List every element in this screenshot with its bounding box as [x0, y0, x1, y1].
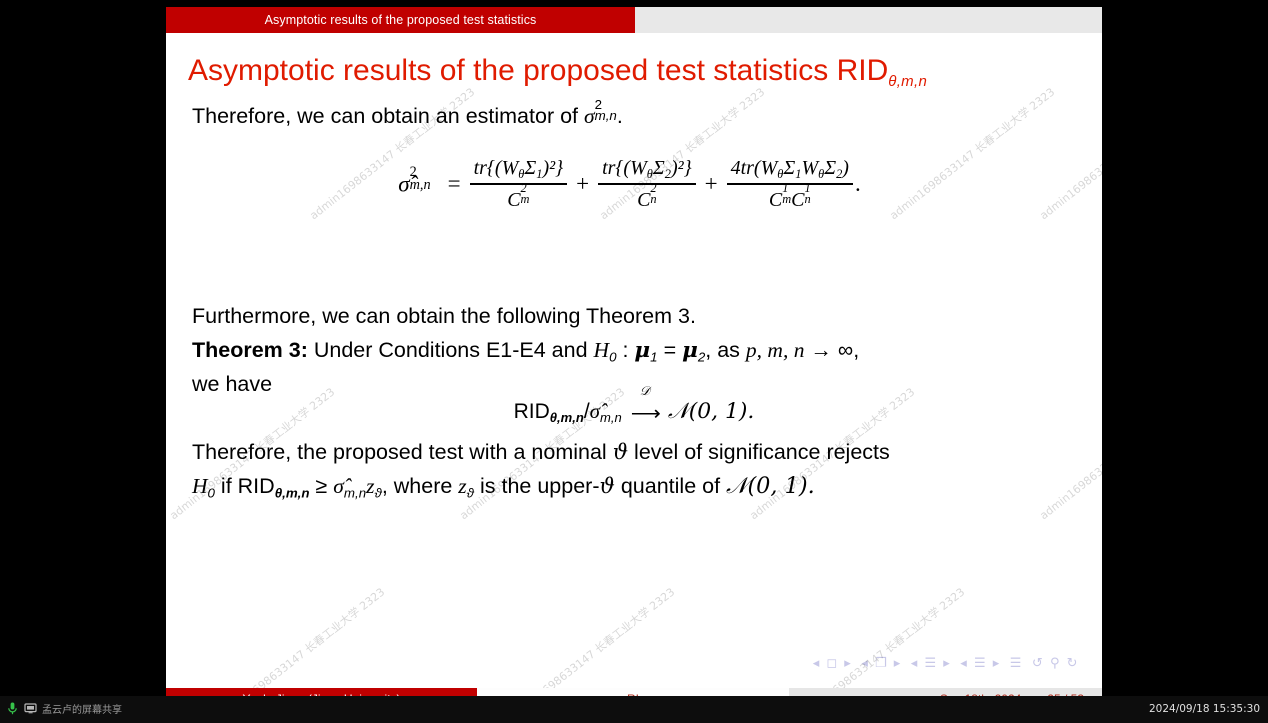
presentation-slide: Asymptotic results of the proposed test …: [166, 7, 1102, 688]
line6-z-subscript: ϑ: [374, 485, 381, 500]
monitor-icon[interactable]: [24, 701, 37, 716]
line6-is-upper: is the upper-: [474, 474, 599, 498]
term2-c-indices: 2n: [650, 187, 656, 207]
os-taskbar: 孟云卢的屏幕共享 2024/09/18 15:35:30: [0, 696, 1268, 723]
page-title-text: Asymptotic results of the proposed test …: [188, 54, 888, 87]
conv-rid: RID: [514, 400, 550, 423]
page-title-subscript: θ,m,n: [888, 73, 927, 90]
conv-rid-subscript: θ,m,n: [550, 410, 584, 425]
term1-c-indices: 2m: [521, 187, 530, 207]
screen-share-indicator[interactable]: 孟云卢的屏幕共享: [6, 701, 122, 716]
fraction-term-1: tr{(WθΣ1)²} C2m: [470, 157, 568, 212]
term1-tr-open: tr{(W: [474, 157, 519, 179]
line6-sigma-hat: σ̂: [333, 474, 344, 498]
term2-tr-open: tr{(W: [602, 157, 647, 179]
line6-where: , where: [382, 474, 458, 498]
watermark: admin1698633147 长春工业大学 2323: [1086, 584, 1102, 688]
convergence-arrow: 𝒟⟶: [631, 401, 659, 426]
body-line-5: Therefore, the proposed test with a nomi…: [166, 435, 916, 470]
line6-quantile: quantile of: [615, 474, 726, 498]
line5-prefix: Therefore, the proposed test with a nomi…: [192, 440, 613, 464]
term2-tail: )²}: [671, 157, 692, 179]
equation-period: .: [855, 171, 861, 197]
term3-c1-sub: m: [782, 194, 791, 204]
screen: Asymptotic results of the proposed test …: [0, 0, 1268, 723]
term3-w-2: W: [801, 157, 818, 179]
nav-section-group[interactable]: ◂ ☰ ▸: [960, 656, 1000, 671]
term3-sigma-1: Σ: [783, 157, 795, 179]
fraction-2-denominator: C2n: [633, 185, 661, 212]
watermark: admin1698633147 长春工业大学 2323: [506, 584, 678, 688]
equals-sign: =: [448, 171, 461, 197]
mu2-symbol: μ: [682, 338, 698, 363]
normal-distribution: 𝒩(0, 1).: [668, 399, 755, 424]
nav-back-search-forward-icons[interactable]: ↺ ⚲ ↻: [1032, 656, 1079, 671]
line1-suffix: .: [617, 104, 623, 128]
convergence-arrow-label: 𝒟: [640, 383, 650, 399]
display-equation-convergence: RIDθ,m,n/σ̂m,n𝒟⟶𝒩(0, 1).: [166, 399, 1102, 426]
fraction-2-numerator: tr{(WθΣ2)²}: [598, 157, 696, 183]
theorem-arrow: → ∞,: [804, 338, 859, 362]
pmn-symbols: p, m, n: [746, 338, 805, 362]
fraction-1-denominator: C2m: [503, 185, 533, 212]
headline-section-active[interactable]: Asymptotic results of the proposed test …: [166, 7, 635, 33]
line6-z2-subscript: ϑ: [467, 485, 474, 500]
nav-slide-group[interactable]: ◂ ◻ ▸: [813, 656, 853, 671]
line6-h0-subscript: 0: [208, 485, 215, 500]
sigma-indices: 2m,n: [595, 103, 617, 125]
line6-geq: ≥: [310, 474, 334, 498]
line6-rid-subscript: θ,m,n: [275, 485, 310, 500]
body-line-2: Furthermore, we can obtain the following…: [166, 299, 722, 333]
page-title: Asymptotic results of the proposed test …: [188, 54, 1078, 99]
beamer-headline-bar: Asymptotic results of the proposed test …: [166, 7, 1102, 33]
sigma-hat-symbol: σ̂: [398, 172, 409, 197]
term3-sigma-2: Σ: [824, 157, 836, 179]
fraction-3-numerator: 4tr(WθΣ1WθΣ2): [727, 157, 853, 183]
line6-sigma-hat-subscript: m,n: [344, 485, 366, 500]
conv-sigma-hat: σ̂: [590, 399, 600, 423]
term3-c1: C: [769, 189, 782, 211]
h0-subscript: 0: [609, 349, 616, 364]
sigma-symbol: σ: [584, 104, 595, 128]
term1-sigma: Σ: [524, 157, 536, 179]
equation-lhs: σ̂2m,n: [398, 171, 430, 198]
line6-h0: H: [192, 474, 208, 498]
term3-c2: C: [791, 189, 804, 211]
nav-subsection-group[interactable]: ◂ ☰ ▸: [911, 656, 951, 671]
beamer-navigation-symbols[interactable]: ◂ ◻ ▸◂ ❐ ▸◂ ☰ ▸◂ ☰ ▸☰↺ ⚲ ↻: [813, 656, 1088, 671]
theorem-text-a: Under Conditions E1-E4 and: [308, 338, 594, 362]
taskbar-clock: 2024/09/18 15:35:30: [1149, 703, 1260, 715]
theorem-colon: :: [617, 338, 635, 362]
watermark: admin1698633147 长春工业大学 2323: [796, 584, 968, 688]
term3-tr-open: 4tr(W: [731, 157, 778, 179]
line6-if: if RID: [215, 474, 275, 498]
term1-tail: )²}: [542, 157, 563, 179]
fraction-1-numerator: tr{(WθΣ1)²}: [470, 157, 568, 183]
body-line-1: Therefore, we can obtain an estimator of…: [166, 99, 649, 133]
headline-section-label: Asymptotic results of the proposed test …: [265, 13, 537, 27]
line1-prefix: Therefore, we can obtain an estimator of: [192, 104, 584, 128]
watermark: admin1698633147 长春工业大学 2323: [216, 584, 388, 688]
theorem-equals: =: [658, 338, 683, 362]
term2-c: C: [637, 189, 650, 211]
fraction-3-denominator: C1mC1n: [765, 185, 815, 212]
body-line-we-have: we have: [166, 367, 298, 401]
plus-sign-2: +: [705, 171, 718, 197]
term3-c2-indices: 1n: [804, 187, 810, 207]
term2-sigma: Σ: [653, 157, 665, 179]
term2-c-sub: n: [650, 194, 656, 204]
conv-sigma-hat-subscript: m,n: [600, 410, 622, 425]
term3-c1-indices: 1m: [782, 187, 791, 207]
fraction-term-3: 4tr(WθΣ1WθΣ2) C1mC1n: [727, 157, 853, 212]
fraction-term-2: tr{(WθΣ2)²} C2n: [598, 157, 696, 212]
theorem-label: Theorem 3:: [192, 338, 308, 362]
nav-toc-icon[interactable]: ☰: [1010, 656, 1023, 671]
microphone-icon[interactable]: [6, 701, 19, 716]
sigma-hat-subscript: m,n: [410, 180, 431, 192]
term3-c2-sub: n: [804, 194, 810, 204]
mu1-subscript: 1: [650, 349, 657, 364]
sigma-hat-indices: 2m,n: [410, 171, 431, 194]
line6-normal-distribution: 𝒩(0, 1).: [726, 473, 815, 499]
display-equation-sigma-hat: σ̂2m,n = tr{(WθΣ1)²} C2m + tr{(WθΣ2)²}: [166, 157, 1102, 212]
plus-sign-1: +: [576, 171, 589, 197]
line5-suffix: level of significance rejects: [628, 440, 890, 464]
convergence-arrow-glyph: ⟶: [631, 402, 659, 425]
mu1-symbol: μ: [634, 338, 650, 363]
term1-c-sub: m: [521, 194, 530, 204]
line6-z2: z: [458, 474, 466, 498]
term1-c: C: [507, 189, 520, 211]
h0-symbol: H: [594, 338, 610, 362]
theorem-text-b: , as: [705, 338, 746, 362]
vartheta-symbol: ϑ: [613, 440, 628, 465]
screen-share-label: 孟云卢的屏幕共享: [42, 701, 122, 716]
body-line-6: H0 if RIDθ,m,n ≥ σ̂m,nzϑ, where zϑ is th…: [166, 469, 841, 510]
nav-frame-group[interactable]: ◂ ❐ ▸: [861, 656, 901, 671]
term3-tail: ): [842, 157, 849, 179]
sigma-subscript: m,n: [595, 111, 617, 122]
line6-vartheta: ϑ: [599, 474, 614, 499]
